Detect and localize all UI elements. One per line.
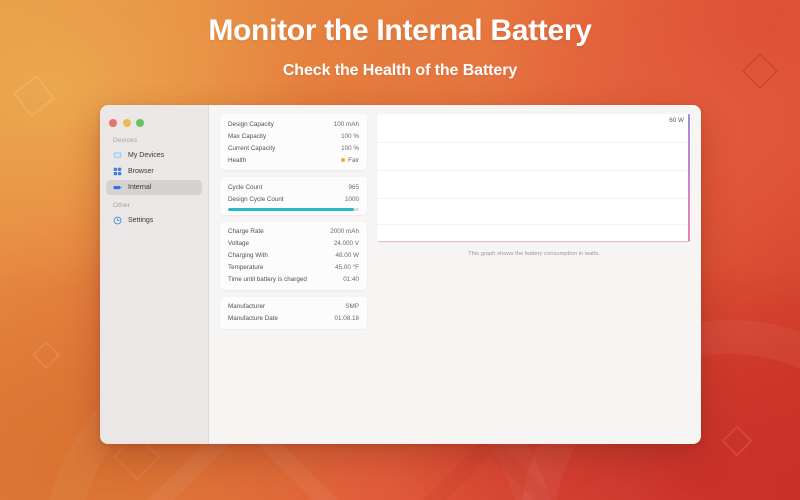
sidebar-item-browser[interactable]: Browser: [106, 164, 202, 179]
clock-gear-icon: [113, 216, 122, 225]
app-window: Devices My Devices: [100, 105, 701, 444]
battery-consumption-chart: 60 W: [377, 114, 691, 242]
chart-gridline: [377, 142, 691, 143]
row-key: Design Cycle Count: [228, 196, 284, 203]
table-row: Manufacture Date 01.08.18: [220, 313, 367, 325]
row-key: Temperature: [228, 264, 263, 271]
row-key: Cycle Count: [228, 184, 262, 191]
status-badge: [341, 158, 345, 162]
row-value: SMP: [345, 303, 359, 310]
content-area: Design Capacity 100 mAh Max Capacity 100…: [209, 105, 701, 444]
diamond-decoration-icon: [13, 75, 55, 117]
row-key: Voltage: [228, 240, 249, 247]
row-value: 01:40: [343, 276, 359, 283]
chart-gridline: [377, 170, 691, 171]
chart-caption: This graph shows the battery consumption…: [377, 251, 691, 257]
chart-y-axis-max-label: 60 W: [669, 117, 684, 124]
row-key: Current Capacity: [228, 145, 275, 152]
maximize-window-button[interactable]: [136, 119, 144, 127]
close-window-button[interactable]: [109, 119, 117, 127]
sidebar-group-label-devices: Devices: [100, 131, 208, 147]
chart-baseline-axis: [377, 241, 691, 242]
table-row: Cycle Count 965: [220, 181, 367, 193]
row-value: 45.00 °F: [335, 264, 359, 271]
row-key: Manufacture Date: [228, 315, 278, 322]
row-value: 100 mAh: [334, 121, 359, 128]
sidebar-item-label: Internal: [128, 184, 151, 191]
row-value: 01.08.18: [334, 315, 359, 322]
row-key: Charge Rate: [228, 228, 264, 235]
row-key: Charging With: [228, 252, 268, 259]
row-value: 1000: [345, 196, 359, 203]
row-key: Max Capacity: [228, 133, 266, 140]
row-value: 2000 mAh: [330, 228, 359, 235]
table-row: Health Fair: [220, 154, 367, 166]
cycle-progress-fill: [228, 208, 354, 211]
sidebar-item-label: Settings: [128, 217, 153, 224]
diamond-decoration-icon: [32, 341, 60, 369]
display-icon: [113, 151, 122, 160]
promo-heading: Monitor the Internal Battery Check the H…: [0, 12, 800, 80]
page-subtitle: Check the Health of the Battery: [0, 62, 800, 80]
sidebar-item-internal[interactable]: Internal: [106, 180, 202, 195]
row-key: Design Capacity: [228, 121, 274, 128]
chart-gridline: [377, 224, 691, 225]
table-row: Charging With 48.00 W: [220, 250, 367, 262]
capacity-card: Design Capacity 100 mAh Max Capacity 100…: [220, 114, 367, 170]
row-key: Time until battery is charged: [228, 276, 307, 283]
row-key: Manufacturer: [228, 303, 265, 310]
minimize-window-button[interactable]: [123, 119, 131, 127]
sidebar-item-label: Browser: [128, 168, 154, 175]
manufacturer-card: Manufacturer SMP Manufacture Date 01.08.…: [220, 297, 367, 329]
table-row: Manufacturer SMP: [220, 301, 367, 313]
sidebar: Devices My Devices: [100, 105, 209, 444]
row-value: Fair: [348, 157, 359, 164]
table-row: Voltage 24.000 V: [220, 238, 367, 250]
table-row: Current Capacity 100 %: [220, 142, 367, 154]
health-status: Fair: [341, 157, 359, 164]
metrics-column: Design Capacity 100 mAh Max Capacity 100…: [220, 114, 367, 434]
cycle-card: Cycle Count 965 Design Cycle Count 1000: [220, 177, 367, 215]
chart-gridline: [377, 198, 691, 199]
table-row: Time until battery is charged 01:40: [220, 274, 367, 286]
row-value: 48.00 W: [336, 252, 359, 259]
row-value: 100 %: [341, 133, 359, 140]
table-row: Charge Rate 2000 mAh: [220, 226, 367, 238]
table-row: Design Cycle Count 1000: [220, 193, 367, 205]
grid-icon: [113, 167, 122, 176]
chart-data-trace: [688, 114, 690, 242]
row-value: 965: [348, 184, 359, 191]
diamond-decoration-icon: [721, 425, 752, 456]
graph-panel: 60 W This graph shows the battery consum…: [377, 114, 691, 434]
row-value: 24.000 V: [334, 240, 359, 247]
row-key: Health: [228, 157, 246, 164]
page-title: Monitor the Internal Battery: [0, 12, 800, 50]
battery-icon: [113, 183, 122, 192]
charging-card: Charge Rate 2000 mAh Voltage 24.000 V Ch…: [220, 222, 367, 290]
sidebar-item-label: My Devices: [128, 152, 164, 159]
sidebar-item-my-devices[interactable]: My Devices: [106, 148, 202, 163]
table-row: Temperature 45.00 °F: [220, 262, 367, 274]
table-row: Max Capacity 100 %: [220, 130, 367, 142]
sidebar-group-label-other: Other: [100, 196, 208, 212]
cycle-progress-bar: [228, 208, 359, 211]
window-traffic-lights: [100, 109, 208, 131]
row-value: 100 %: [341, 145, 359, 152]
table-row: Design Capacity 100 mAh: [220, 118, 367, 130]
sidebar-item-settings[interactable]: Settings: [106, 213, 202, 228]
promo-background: Monitor the Internal Battery Check the H…: [0, 0, 800, 500]
